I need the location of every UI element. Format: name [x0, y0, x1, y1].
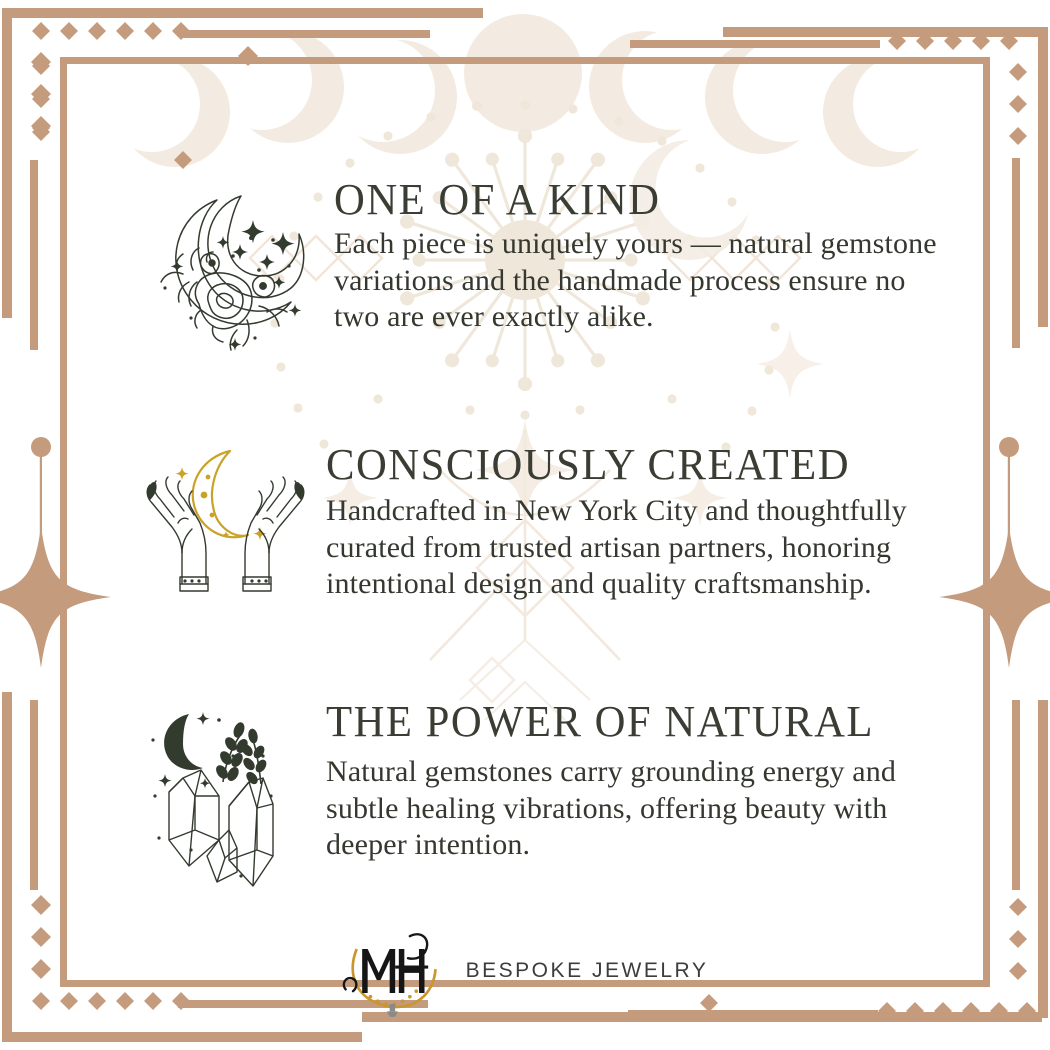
poster-canvas: ONE OF A KIND Each piece is uniquely you… [0, 0, 1050, 1050]
feature-block-consciously-created: CONSCIOUSLY CREATED Handcrafted in New Y… [130, 443, 960, 603]
feature-text-wrapper: CONSCIOUSLY CREATED Handcrafted in New Y… [320, 443, 960, 603]
hands-holding-moon-icon [138, 443, 313, 603]
feature-text-wrapper: ONE OF A KIND Each piece is uniquely you… [320, 178, 940, 336]
mh-monogram-icon [342, 925, 452, 1017]
content-area: ONE OF A KIND Each piece is uniquely you… [0, 0, 1050, 1050]
feature-title: CONSCIOUSLY CREATED [326, 443, 941, 487]
feature-title: ONE OF A KIND [334, 178, 922, 222]
feature-icon-wrapper [150, 178, 320, 353]
feature-body: Handcrafted in New York City and thought… [326, 493, 960, 603]
brand-wordmark: BESPOKE JEWELRY [466, 959, 709, 983]
feature-block-power-of-natural: THE POWER OF NATURAL Natural gemstones c… [140, 700, 960, 890]
feature-title: THE POWER OF NATURAL [326, 700, 941, 744]
crescent-moon-floral-icon [155, 178, 315, 353]
feature-block-one-of-a-kind: ONE OF A KIND Each piece is uniquely you… [150, 178, 940, 353]
crystal-cluster-botanical-icon [145, 700, 315, 890]
feature-text-wrapper: THE POWER OF NATURAL Natural gemstones c… [320, 700, 960, 864]
feature-body: Natural gemstones carry grounding energy… [326, 754, 960, 864]
feature-icon-wrapper [140, 700, 320, 890]
feature-icon-wrapper [130, 443, 320, 603]
brand-logo: BESPOKE JEWELRY [0, 925, 1050, 1017]
feature-body: Each piece is uniquely yours — natural g… [334, 226, 940, 336]
